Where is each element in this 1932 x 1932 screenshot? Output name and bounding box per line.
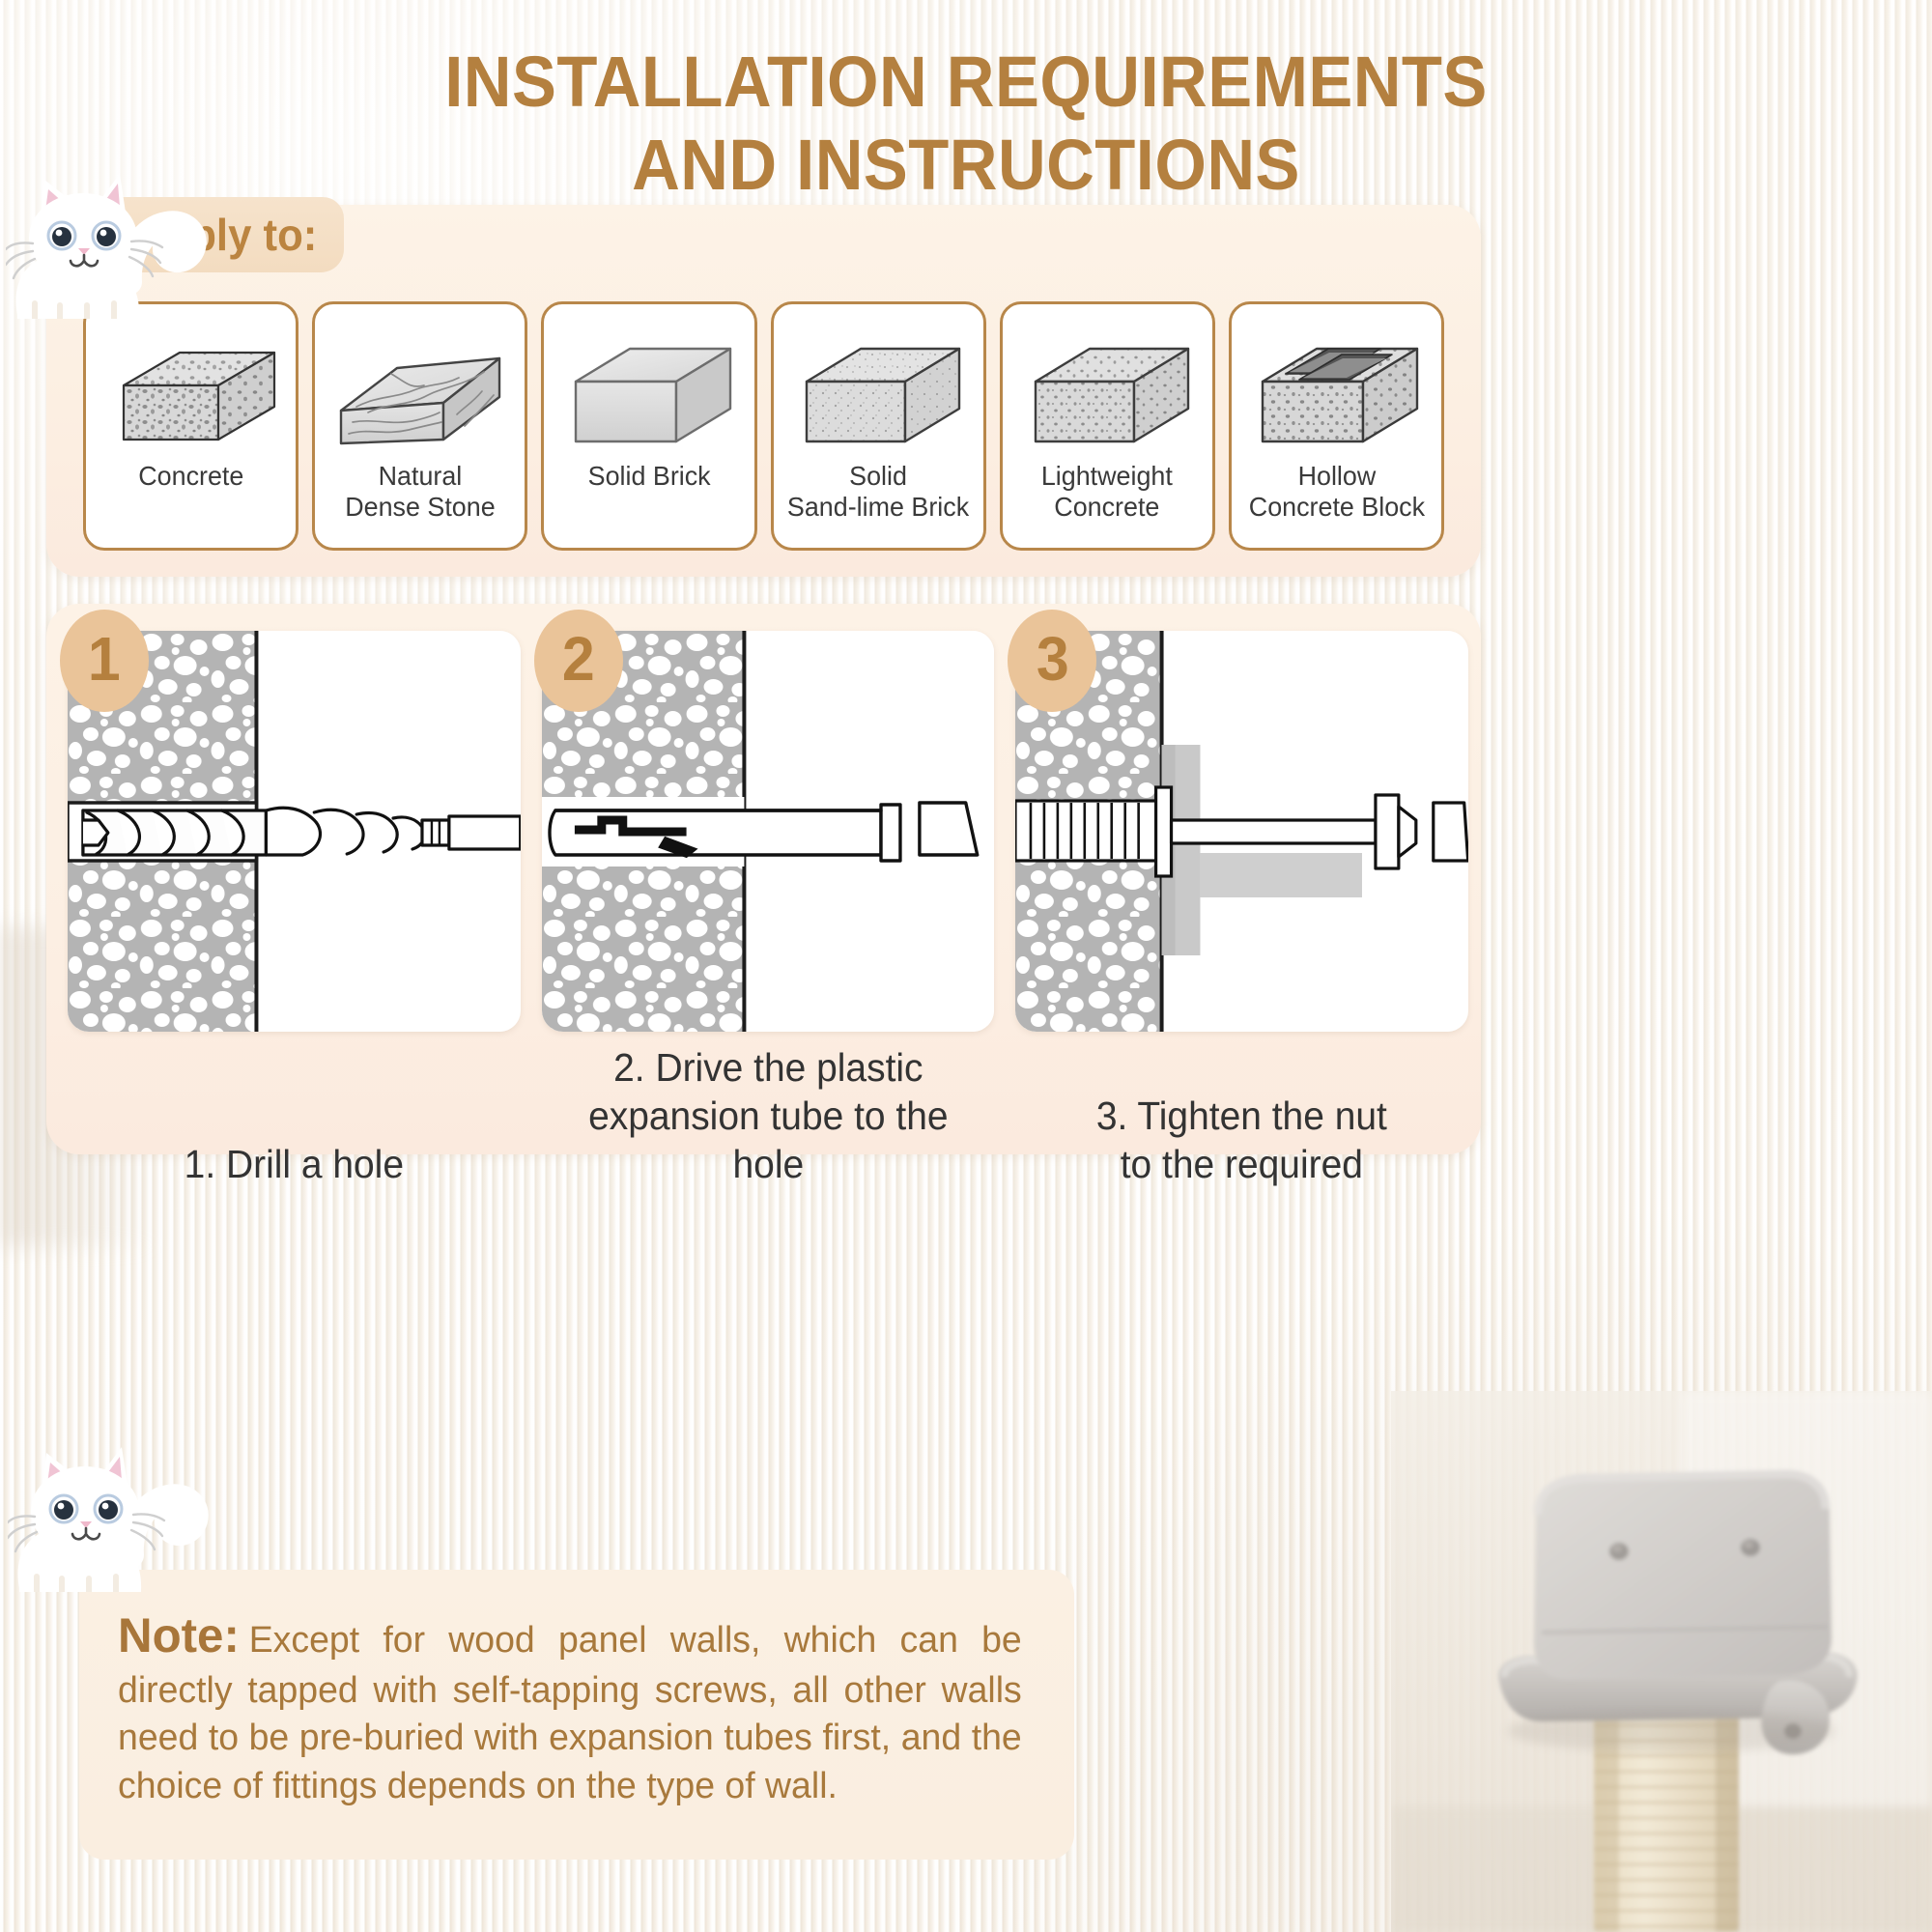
material-label: Concrete <box>138 461 243 492</box>
step-caption-1: 1. Drill a hole <box>79 1043 509 1188</box>
concrete-block-icon <box>92 322 290 457</box>
step-cell-3[interactable]: 3 <box>1015 631 1468 1032</box>
material-card-hollow-concrete-block[interactable]: Hollow Concrete Block <box>1229 301 1444 551</box>
white-cat-icon <box>6 145 218 319</box>
material-label: Solid Sand-lime Brick <box>787 461 969 524</box>
hollow-block-icon <box>1237 322 1435 457</box>
sand-lime-brick-icon <box>780 322 978 457</box>
note-body: Except for wood panel walls, which can b… <box>118 1620 1022 1806</box>
solid-brick-icon <box>550 322 748 457</box>
material-grid: Concrete <box>83 301 1444 551</box>
step-caption-3: 3. Tighten the nut to the required <box>1027 1043 1457 1188</box>
material-label: Solid Brick <box>587 461 710 492</box>
note-label: Note: <box>118 1608 240 1662</box>
lightweight-concrete-icon <box>1009 322 1207 457</box>
material-card-natural-dense-stone[interactable]: Natural Dense Stone <box>312 301 527 551</box>
page-title: INSTALLATION REQUIREMENTS AND INSTRUCTIO… <box>0 46 1932 201</box>
title-line-2: AND INSTRUCTIONS <box>68 129 1864 201</box>
material-card-solid-brick[interactable]: Solid Brick <box>541 301 756 551</box>
note-text: Note:Except for wood panel walls, which … <box>118 1605 1022 1810</box>
cat-tree-photo <box>1391 1391 1932 1932</box>
step-number: 1 <box>88 628 121 690</box>
step-badge-2: 2 <box>534 610 623 712</box>
step-caption-2: 2. Drive the plastic expansion tube to t… <box>553 1043 982 1188</box>
step-cell-1[interactable]: 1 <box>68 631 521 1032</box>
step-cell-2[interactable]: 2 <box>542 631 995 1032</box>
material-label: Natural Dense Stone <box>345 461 495 524</box>
step-number: 2 <box>562 628 595 690</box>
white-cat-icon <box>8 1418 220 1592</box>
material-card-concrete[interactable]: Concrete <box>83 301 298 551</box>
title-line-1: INSTALLATION REQUIREMENTS <box>68 46 1864 118</box>
material-label: Hollow Concrete Block <box>1248 461 1424 524</box>
note-panel: Note:Except for wood panel walls, which … <box>79 1570 1074 1860</box>
step-badge-1: 1 <box>60 610 149 712</box>
installation-steps-panel: 1 <box>46 604 1481 1154</box>
natural-stone-icon <box>321 322 519 457</box>
apply-to-panel: Apply to: <box>46 205 1481 577</box>
step-badge-3: 3 <box>1008 610 1096 712</box>
step-caption-row: 1. Drill a hole 2. Drive the plastic exp… <box>68 1043 1468 1188</box>
material-label: Lightweight Concrete <box>1041 461 1173 524</box>
material-card-lightweight-concrete[interactable]: Lightweight Concrete <box>1000 301 1215 551</box>
step-number: 3 <box>1036 628 1068 690</box>
step-figure-row: 1 <box>68 631 1468 1032</box>
material-card-sand-lime-brick[interactable]: Solid Sand-lime Brick <box>771 301 986 551</box>
